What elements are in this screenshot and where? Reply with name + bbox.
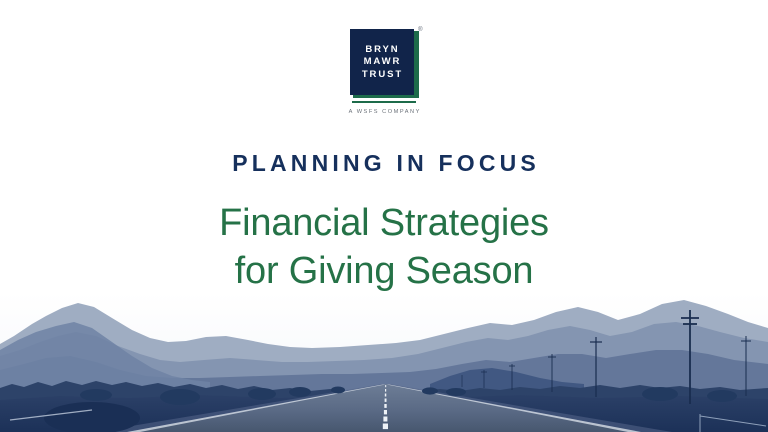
- logo-word-line-2: MAWR: [362, 57, 402, 67]
- logo-tagline: A WSFS COMPANY: [347, 109, 421, 115]
- presentation-slide: BRYN MAWR TRUST ® A WSFS COMPANY PLANNIN…: [0, 0, 768, 432]
- desert-highway-photo: [0, 292, 768, 432]
- headline-line-2: for Giving Season: [0, 247, 768, 295]
- logo-wordmark: BRYN MAWR TRUST: [350, 29, 414, 95]
- logo-divider-rule: [352, 101, 416, 103]
- registered-trademark-icon: ®: [418, 27, 422, 33]
- logo-mark: BRYN MAWR TRUST ®: [350, 27, 419, 98]
- brand-logo: BRYN MAWR TRUST ® A WSFS COMPANY: [0, 27, 768, 115]
- desert-highway-illustration: [0, 292, 768, 432]
- slide-headline: Financial Strategies for Giving Season: [0, 199, 768, 296]
- logo-word-line-3: TRUST: [360, 70, 403, 80]
- headline-line-1: Financial Strategies: [0, 199, 768, 247]
- logo-word-line-1: BRYN: [363, 45, 399, 55]
- series-eyebrow: PLANNING IN FOCUS: [0, 152, 768, 175]
